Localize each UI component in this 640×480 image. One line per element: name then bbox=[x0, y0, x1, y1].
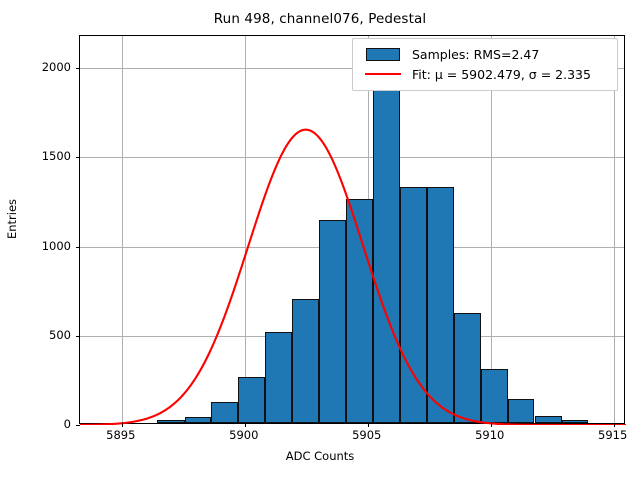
y-tick-mark bbox=[76, 425, 80, 426]
x-tick-label: 5905 bbox=[352, 428, 381, 442]
x-tick-label: 5895 bbox=[106, 428, 135, 442]
axis-ticks bbox=[80, 36, 624, 423]
y-tick-mark bbox=[76, 157, 80, 158]
legend-line-icon bbox=[361, 73, 405, 76]
legend-label-samples: Samples: RMS=2.47 bbox=[405, 47, 539, 62]
y-tick-label: 500 bbox=[1, 328, 71, 342]
x-tick-mark bbox=[491, 423, 492, 427]
x-tick-mark bbox=[122, 423, 123, 427]
x-tick-mark bbox=[614, 423, 615, 427]
legend-patch-icon bbox=[361, 48, 405, 61]
y-tick-mark bbox=[76, 336, 80, 337]
chart-title: Run 498, channel076, Pedestal bbox=[0, 11, 640, 27]
x-tick-mark bbox=[245, 423, 246, 427]
y-tick-mark bbox=[76, 68, 80, 69]
y-axis-label: Entries bbox=[5, 119, 19, 319]
y-tick-label: 2000 bbox=[1, 60, 71, 74]
legend-entry-fit: Fit: μ = 5902.479, σ = 2.335 bbox=[361, 64, 609, 84]
legend-entry-samples: Samples: RMS=2.47 bbox=[361, 44, 609, 64]
y-tick-mark bbox=[76, 247, 80, 248]
plot-area bbox=[79, 35, 625, 424]
x-tick-label: 5900 bbox=[229, 428, 258, 442]
x-axis-label: ADC Counts bbox=[0, 449, 640, 463]
x-tick-label: 5910 bbox=[475, 428, 504, 442]
figure-canvas: Run 498, channel076, Pedestal 5895590059… bbox=[0, 0, 640, 480]
x-tick-mark bbox=[368, 423, 369, 427]
chart-legend: Samples: RMS=2.47 Fit: μ = 5902.479, σ =… bbox=[352, 38, 618, 91]
y-tick-label: 0 bbox=[1, 417, 71, 431]
legend-label-fit: Fit: μ = 5902.479, σ = 2.335 bbox=[405, 67, 591, 82]
x-tick-label: 5915 bbox=[598, 428, 627, 442]
